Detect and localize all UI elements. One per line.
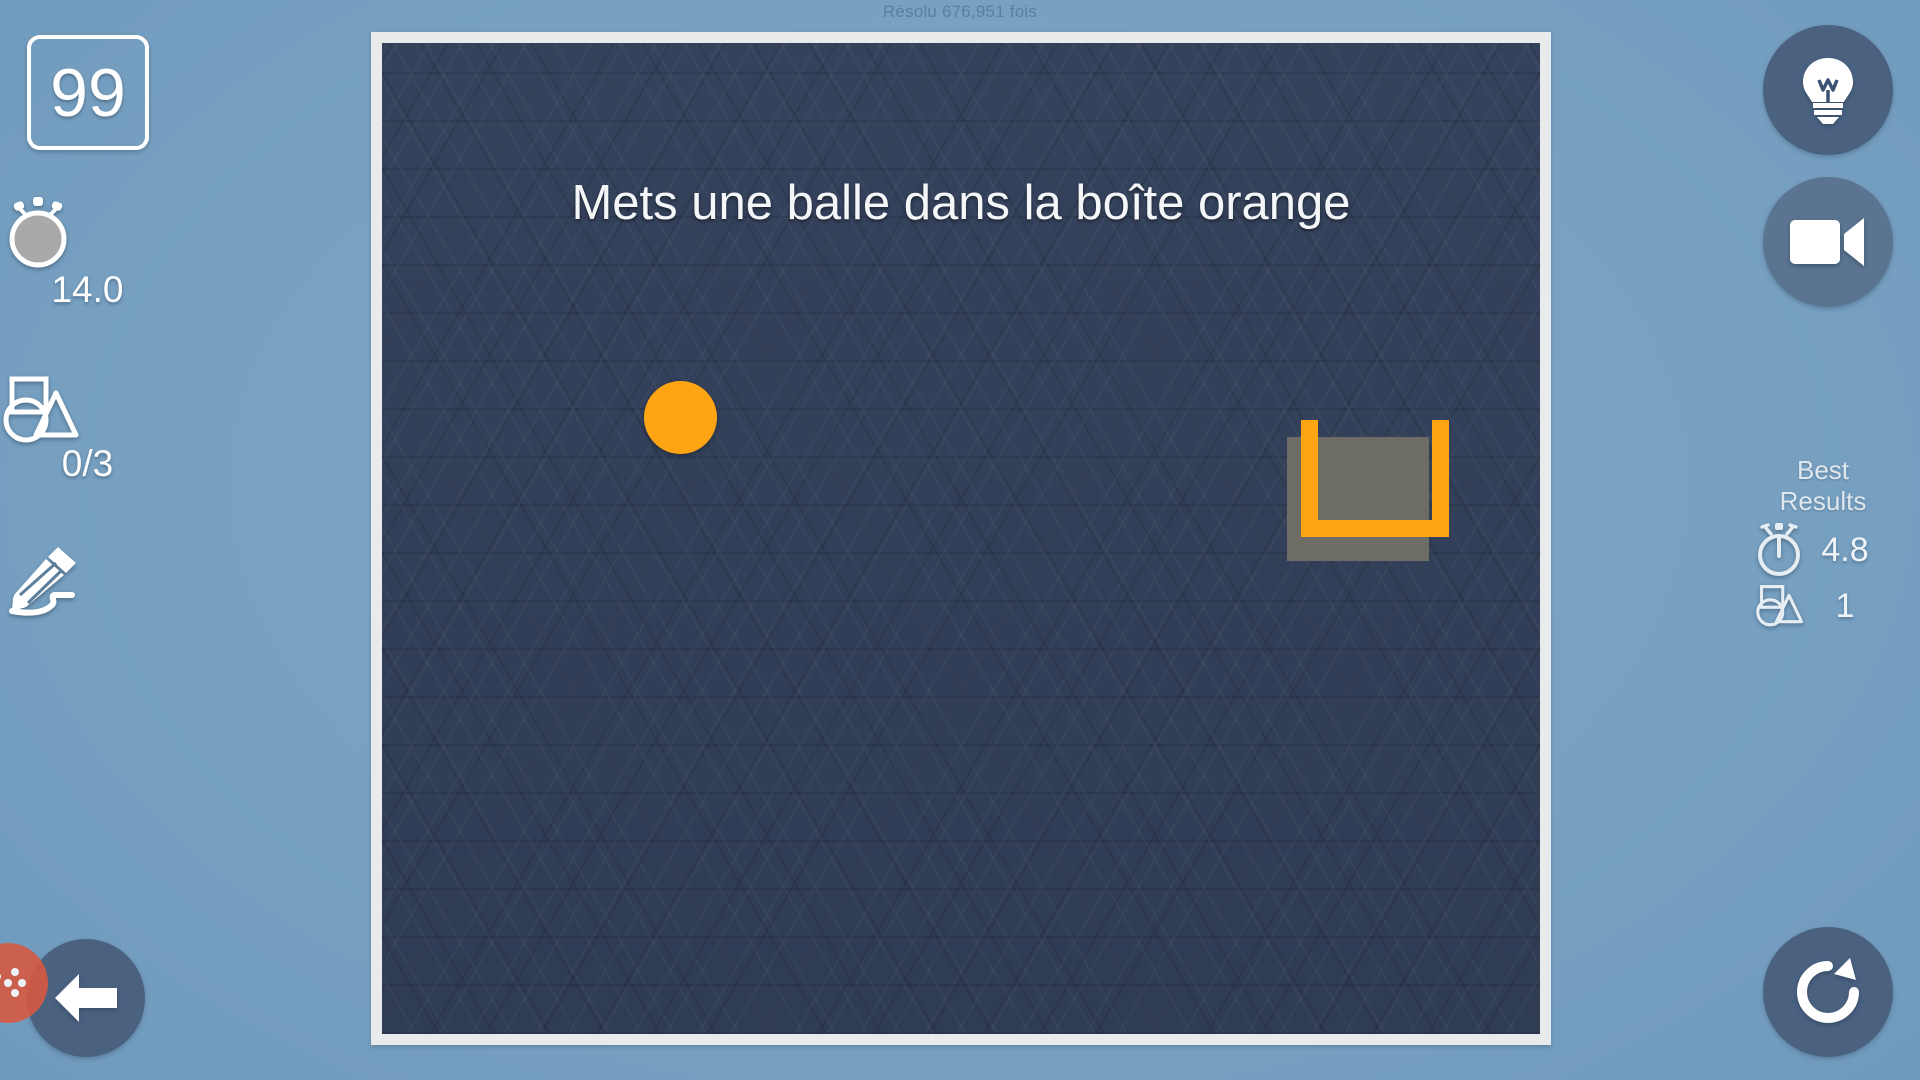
shapes-stat: 0/3	[0, 375, 175, 484]
best-results-panel: Best Results 4.8 1	[1748, 455, 1898, 629]
best-shapes-value: 1	[1816, 589, 1874, 623]
solved-count-label: Résolu 676,951 fois	[0, 0, 1920, 24]
game-board-frame: Mets une balle dans la boîte orange	[371, 32, 1551, 1045]
game-board[interactable]: Mets une balle dans la boîte orange	[382, 43, 1540, 1034]
gamepad-icon	[0, 966, 31, 1000]
refresh-icon	[1794, 958, 1862, 1026]
lightbulb-icon	[1797, 56, 1859, 124]
time-stat: 14.0	[0, 195, 175, 310]
best-results-title-line2: Results	[1748, 486, 1898, 517]
stopwatch-icon	[0, 195, 175, 271]
back-arrow-icon	[53, 969, 119, 1027]
best-results-title-line1: Best	[1748, 455, 1898, 486]
best-time-row: 4.8	[1748, 523, 1898, 577]
video-camera-icon	[1790, 216, 1866, 268]
time-value: 14.0	[0, 271, 175, 310]
stopwatch-icon	[1754, 523, 1804, 577]
hint-button[interactable]	[1763, 25, 1893, 155]
shapes-icon	[0, 375, 175, 445]
shapes-value: 0/3	[0, 445, 175, 484]
orange-open-box	[1301, 420, 1449, 537]
restart-button[interactable]	[1763, 927, 1893, 1057]
orange-ball[interactable]	[644, 381, 717, 454]
best-shapes-row: 1	[1748, 583, 1898, 629]
video-button[interactable]	[1763, 177, 1893, 307]
level-number-badge: 99	[27, 35, 149, 150]
best-time-value: 4.8	[1816, 533, 1874, 567]
draw-tool-button[interactable]	[0, 545, 175, 617]
puzzle-instruction: Mets une balle dans la boîte orange	[382, 175, 1540, 231]
pencil-draw-icon	[0, 545, 175, 617]
shapes-icon	[1754, 583, 1804, 629]
